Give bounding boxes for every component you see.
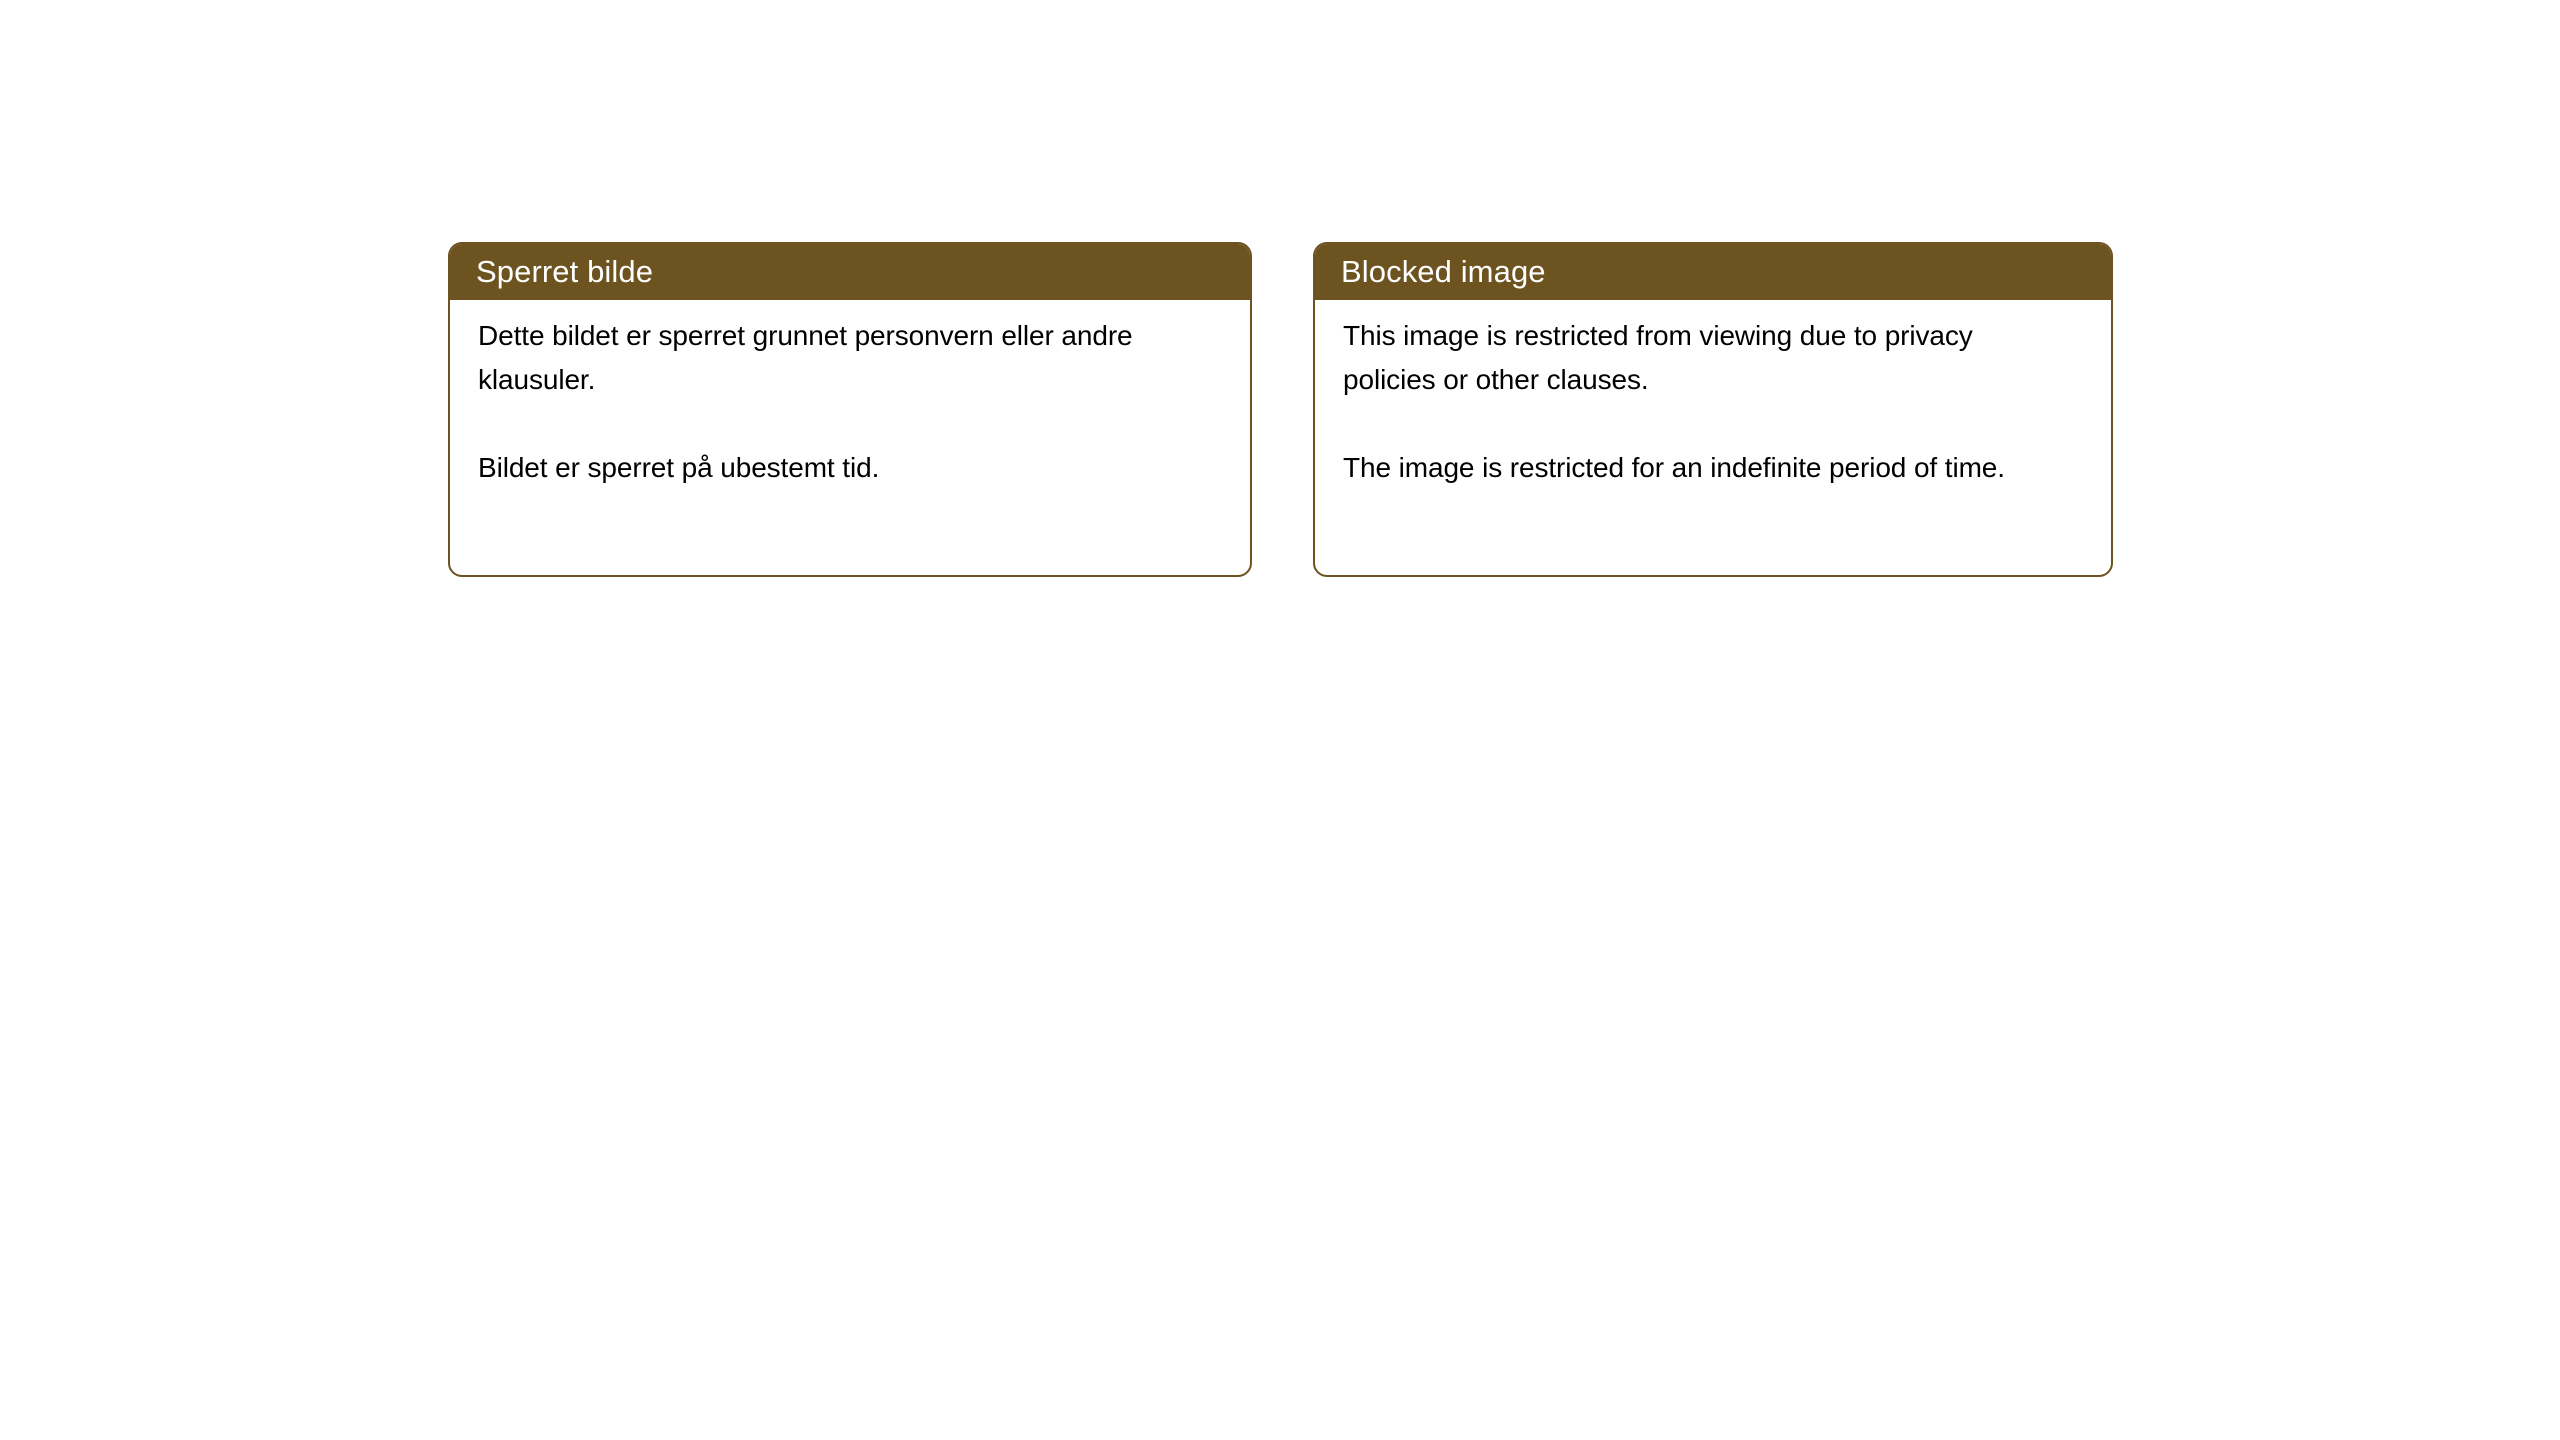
panel-paragraph-english-1: This image is restricted from viewing du… (1343, 314, 2043, 402)
panel-paragraph-english-2: The image is restricted for an indefinit… (1343, 446, 2043, 490)
page-canvas: Sperret bilde Dette bildet er sperret gr… (0, 0, 2560, 1440)
panel-paragraph-norwegian-1: Dette bildet er sperret grunnet personve… (478, 314, 1178, 402)
panel-header-norwegian: Sperret bilde (448, 242, 1252, 300)
panel-body-english: This image is restricted from viewing du… (1315, 300, 2111, 490)
panel-title-english: Blocked image (1341, 256, 1546, 287)
blocked-image-notice-norwegian: Sperret bilde Dette bildet er sperret gr… (448, 242, 1252, 577)
panel-paragraph-norwegian-2: Bildet er sperret på ubestemt tid. (478, 446, 1178, 490)
panel-body-norwegian: Dette bildet er sperret grunnet personve… (450, 300, 1250, 490)
panel-title-norwegian: Sperret bilde (476, 256, 653, 287)
panel-header-english: Blocked image (1313, 242, 2113, 300)
blocked-image-notice-english: Blocked image This image is restricted f… (1313, 242, 2113, 577)
